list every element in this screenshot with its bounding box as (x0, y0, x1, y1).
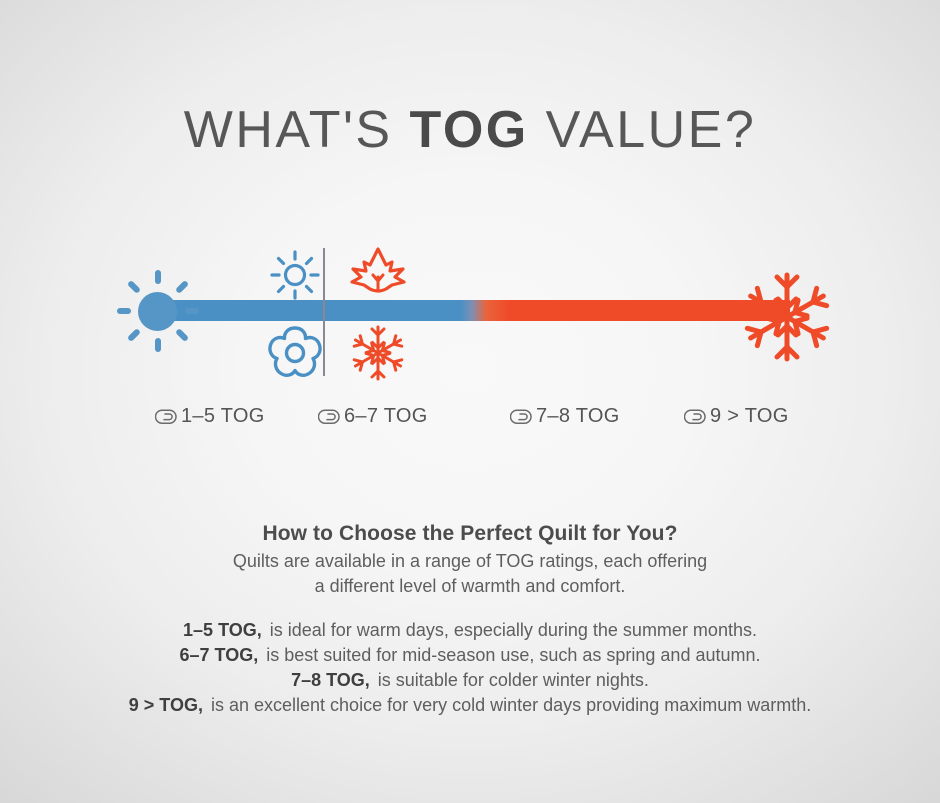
page-title: WHAT'S TOG VALUE? (0, 100, 940, 160)
tog-description-text: is an excellent choice for very cold win… (211, 695, 811, 715)
page-title-strong: TOG (410, 101, 529, 159)
sun-disc (138, 292, 177, 331)
bottom-subtext-line-1: Quilts are available in a range of TOG r… (0, 549, 940, 574)
snowflake-icon (349, 324, 407, 382)
bottom-heading: How to Choose the Perfect Quilt for You? (0, 522, 940, 546)
rolled-quilt-icon (684, 408, 706, 426)
maple-leaf-icon (348, 244, 408, 306)
bottom-copy: How to Choose the Perfect Quilt for You?… (0, 522, 940, 599)
tog-description-row: 7–8 TOG, is suitable for colder winter n… (0, 668, 940, 693)
page-title-pre: WHAT'S (184, 101, 410, 159)
sun-ray (127, 280, 141, 294)
sun-ray (155, 270, 161, 284)
tog-description-text: is suitable for colder winter nights. (378, 670, 649, 690)
tog-description-row: 6–7 TOG, is best suited for mid-season u… (0, 643, 940, 668)
tog-description-rating: 9 > TOG, (129, 695, 203, 715)
tog-label-item: 6–7 TOG (318, 405, 428, 428)
rolled-quilt-icon (318, 408, 340, 426)
rolled-quilt-icon (155, 408, 177, 426)
sun-ray (117, 308, 131, 314)
tog-label-text: 7–8 TOG (536, 405, 620, 428)
sun-ray (175, 328, 189, 342)
tog-description-text: is best suited for mid-season use, such … (266, 645, 760, 665)
bottom-subtext-line-2: a different level of warmth and comfort. (0, 574, 940, 599)
snowflake-icon (740, 270, 834, 369)
sun-ray (155, 338, 161, 352)
tog-label-text: 6–7 TOG (344, 405, 428, 428)
flower-icon (266, 325, 324, 381)
tog-label-text: 1–5 TOG (181, 405, 265, 428)
sun-icon (268, 248, 322, 302)
tog-description-text: is ideal for warm days, especially durin… (270, 620, 757, 640)
rolled-quilt-icon (510, 408, 532, 426)
page-title-post: VALUE? (529, 101, 757, 159)
tog-description-rating: 6–7 TOG, (180, 645, 259, 665)
sun-ray (185, 308, 199, 314)
sun-ray (175, 280, 189, 294)
tog-label-text: 9 > TOG (710, 405, 789, 428)
tog-description-row: 1–5 TOG, is ideal for warm days, especia… (0, 618, 940, 643)
tog-label-row: 1–5 TOG 6–7 TOG 7–8 TOG 9 > TOG (0, 405, 940, 441)
tog-label-item: 9 > TOG (684, 405, 789, 428)
tog-label-item: 1–5 TOG (155, 405, 265, 428)
sun-icon (112, 281, 196, 341)
tog-description-list: 1–5 TOG, is ideal for warm days, especia… (0, 618, 940, 718)
tog-description-rating: 7–8 TOG, (291, 670, 370, 690)
tog-description-row: 9 > TOG, is an excellent choice for very… (0, 693, 940, 718)
tog-scale (0, 240, 940, 385)
temperature-gradient-bar (150, 300, 790, 321)
tog-label-item: 7–8 TOG (510, 405, 620, 428)
tog-description-rating: 1–5 TOG, (183, 620, 262, 640)
sun-ray (127, 328, 141, 342)
